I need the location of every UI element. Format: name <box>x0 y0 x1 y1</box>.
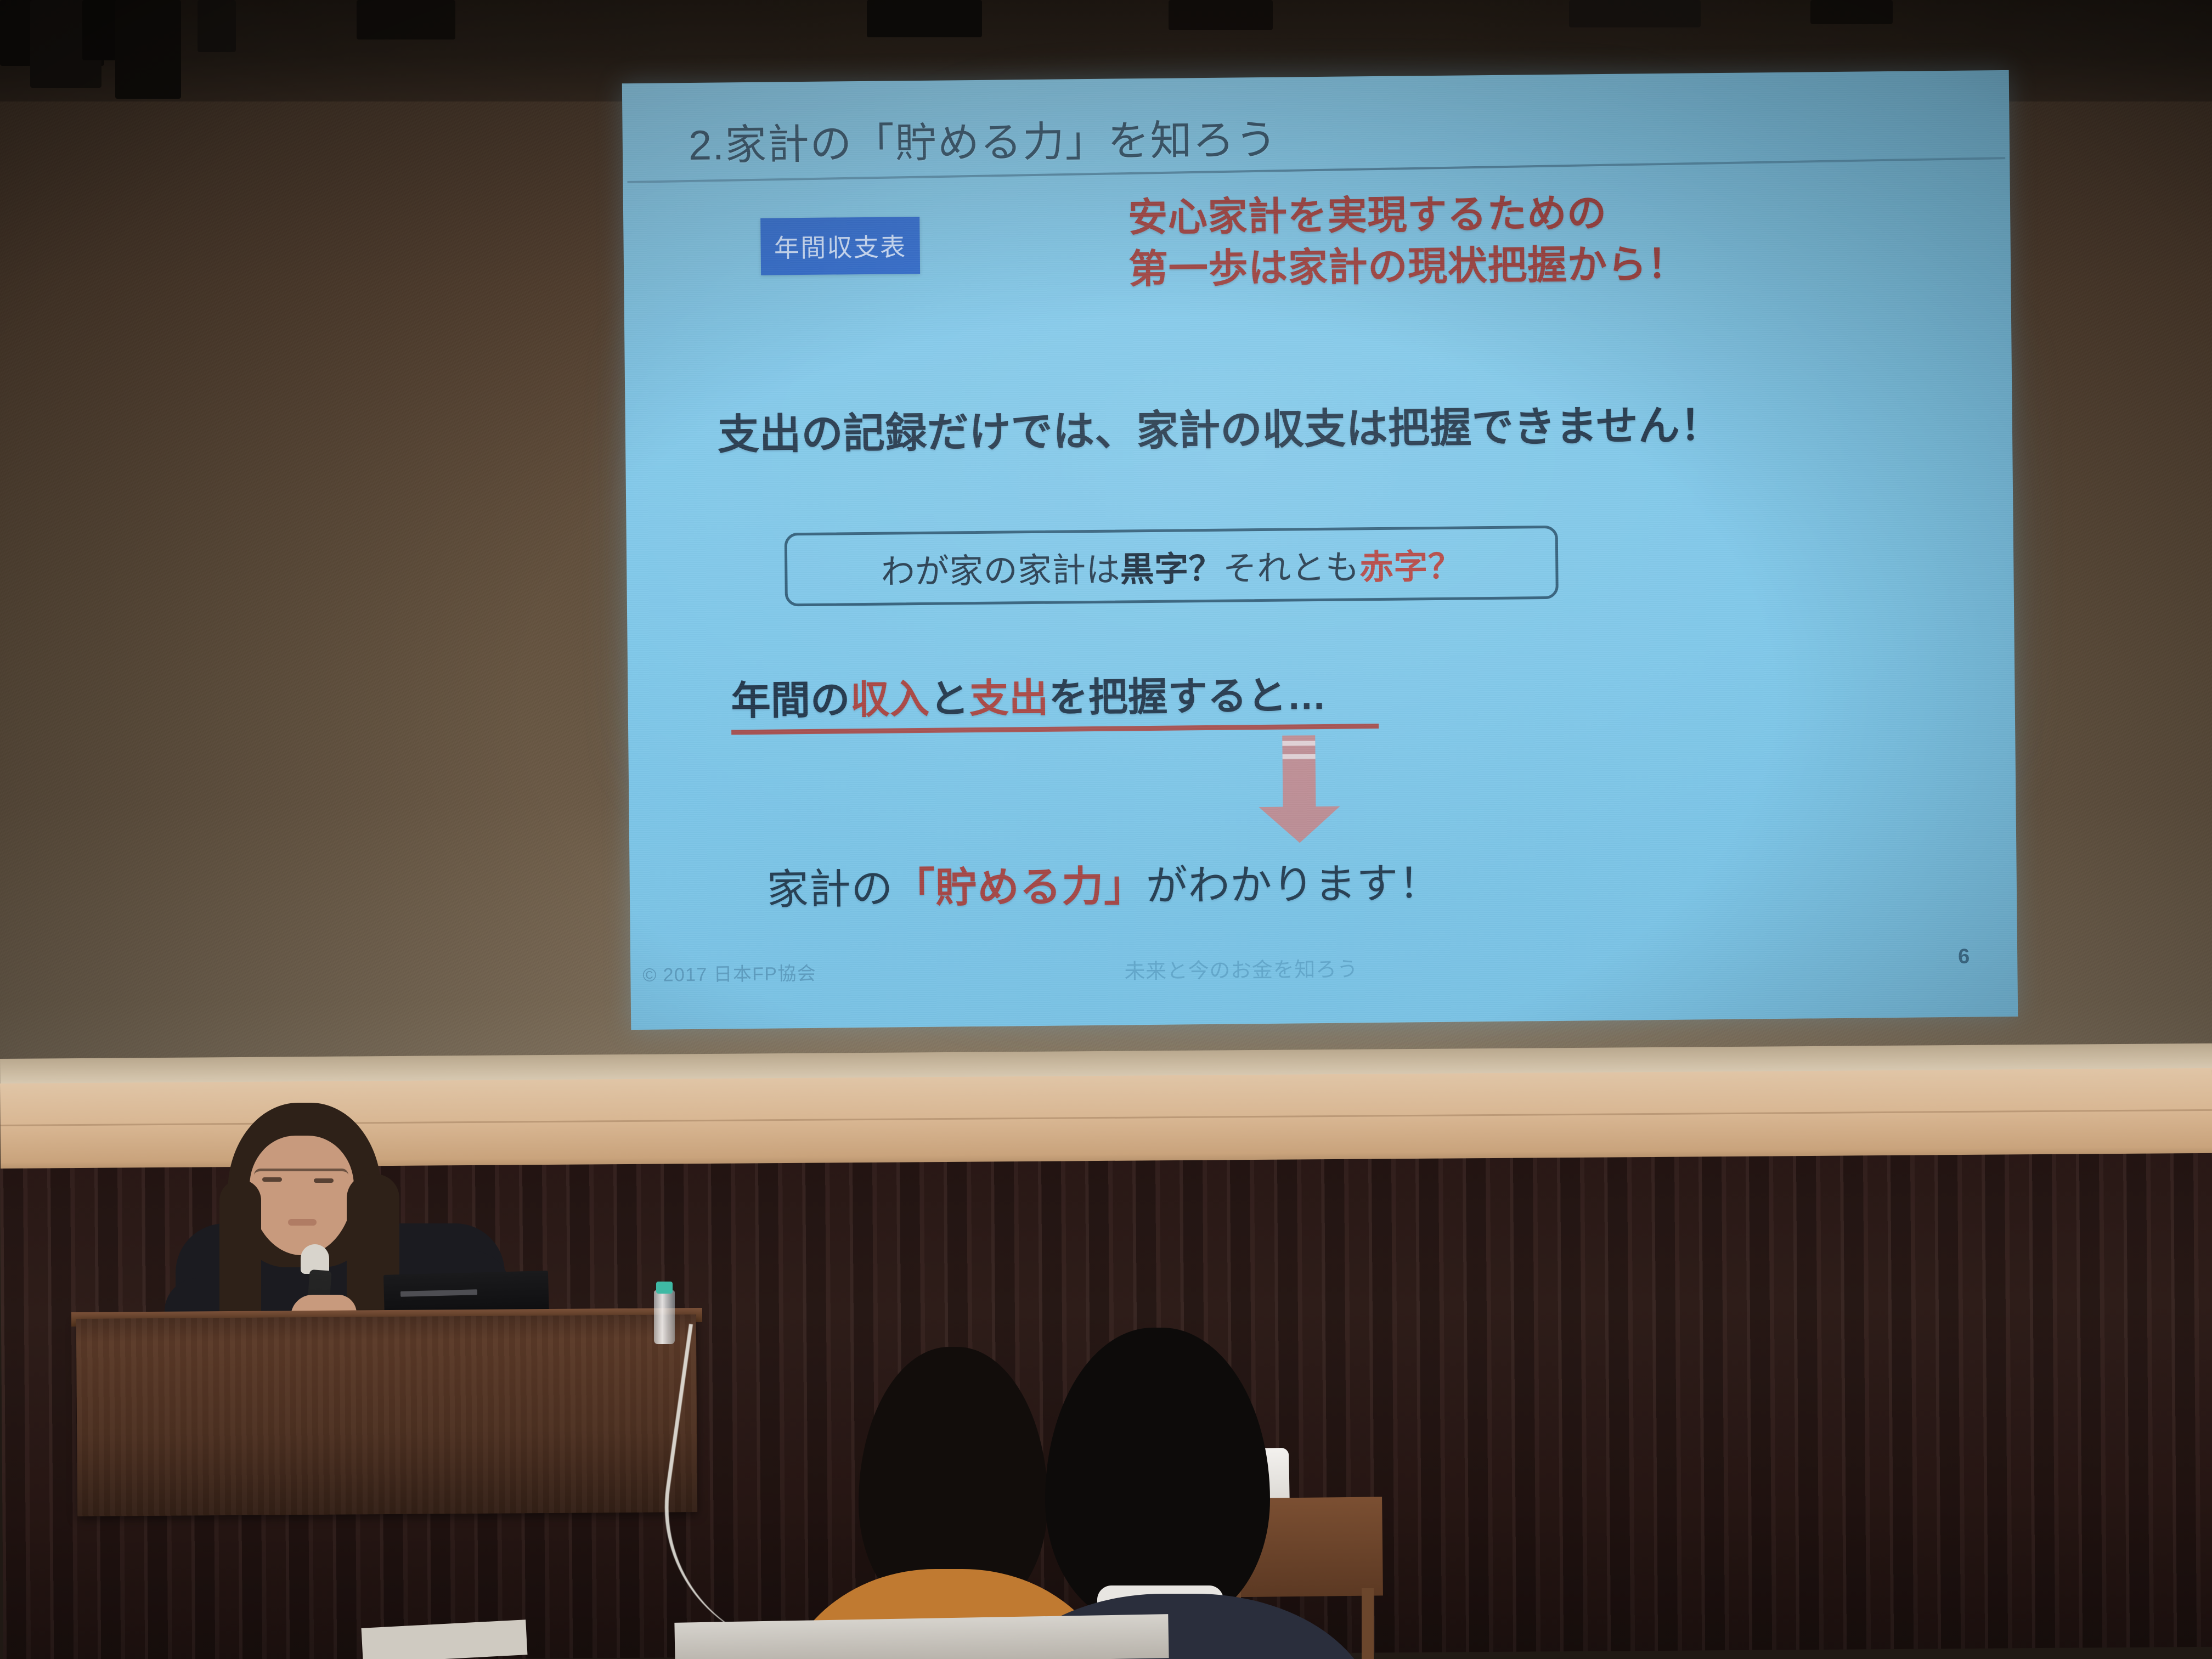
water-bottle[interactable] <box>654 1290 675 1344</box>
water-bottle-cap <box>656 1282 673 1294</box>
presenter-eye-right <box>314 1178 334 1183</box>
screenshot-root: 2.家計の「貯める力」を知ろう 年間収支表 安心家計を実現するための 第一歩は家… <box>0 0 2212 1659</box>
side-table-leg <box>1362 1588 1374 1659</box>
podium <box>76 1314 697 1516</box>
presenter-mouth <box>288 1219 317 1226</box>
podium-wood-grain <box>76 1314 697 1516</box>
presenter-eye-left <box>262 1177 282 1182</box>
